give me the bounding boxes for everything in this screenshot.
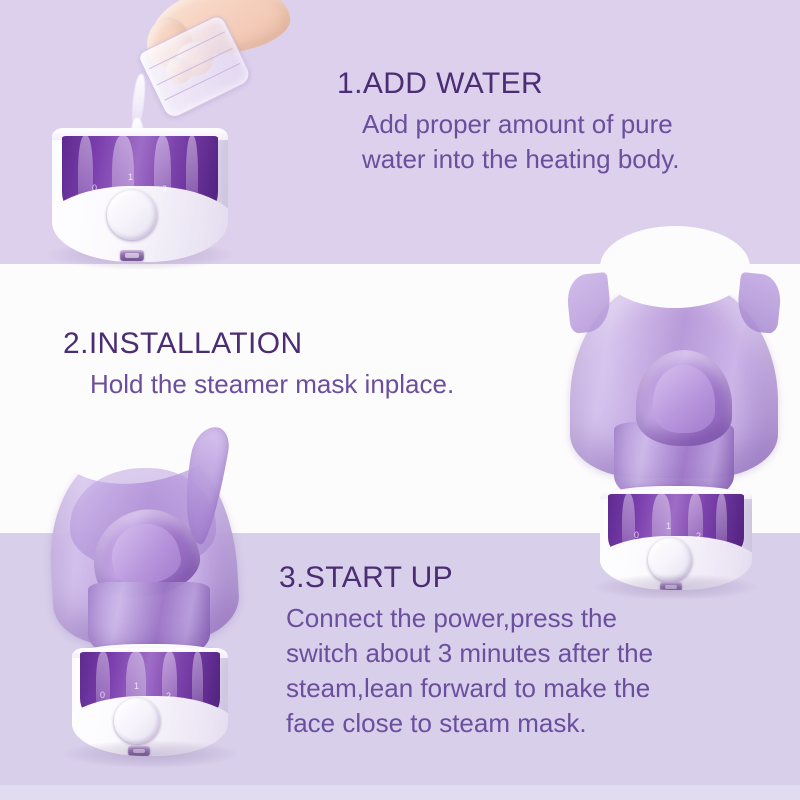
dial-mark-2: 2 (162, 184, 167, 194)
cup-gradation-line (156, 47, 233, 85)
step-2-heading: 2.INSTALLATION (63, 328, 454, 360)
power-knob[interactable] (114, 698, 160, 744)
steam-nozzle-opening (653, 365, 714, 432)
dial-mark-1: 1 (134, 681, 139, 691)
dial-mark-0: 0 (92, 183, 97, 193)
steam-nozzle-opening (106, 517, 185, 590)
dial-mark-0: 0 (100, 690, 105, 700)
step-2-text-block: 2.INSTALLATION Hold the steamer mask inp… (63, 328, 454, 402)
cup-gradation-line (164, 63, 241, 101)
mask-top-concave-cut (600, 226, 750, 308)
step-3-body: Connect the power,press the switch about… (286, 601, 653, 741)
step-2-illustration: 0 1 2 (34, 432, 284, 772)
step-3-illustration: 0 1 2 (548, 272, 800, 592)
dial-mark-2: 2 (166, 691, 171, 701)
dial-mark-0: 0 (634, 530, 639, 540)
step-1-illustration: 0 1 2 (0, 0, 330, 270)
base-unit-shadow (64, 740, 238, 768)
base-unit: 0 1 2 (52, 128, 228, 262)
footer-strip (0, 785, 800, 800)
instruction-infographic: 0 1 2 1.ADD WATER Add proper amount of p… (0, 0, 800, 800)
step-3-heading: 3.START UP (279, 562, 653, 594)
dial-mark-2: 2 (696, 531, 701, 541)
dial-mark-1: 1 (666, 521, 671, 531)
dial-mark-1: 1 (128, 172, 133, 182)
step-1-text-block: 1.ADD WATER Add proper amount of pure wa… (337, 68, 680, 177)
step-1-heading: 1.ADD WATER (337, 68, 680, 100)
step-3-text-block: 3.START UP Connect the power,press the s… (279, 562, 653, 741)
power-knob[interactable] (107, 190, 157, 240)
power-switch[interactable] (120, 250, 144, 261)
step-1-body: Add proper amount of pure water into the… (362, 107, 680, 177)
